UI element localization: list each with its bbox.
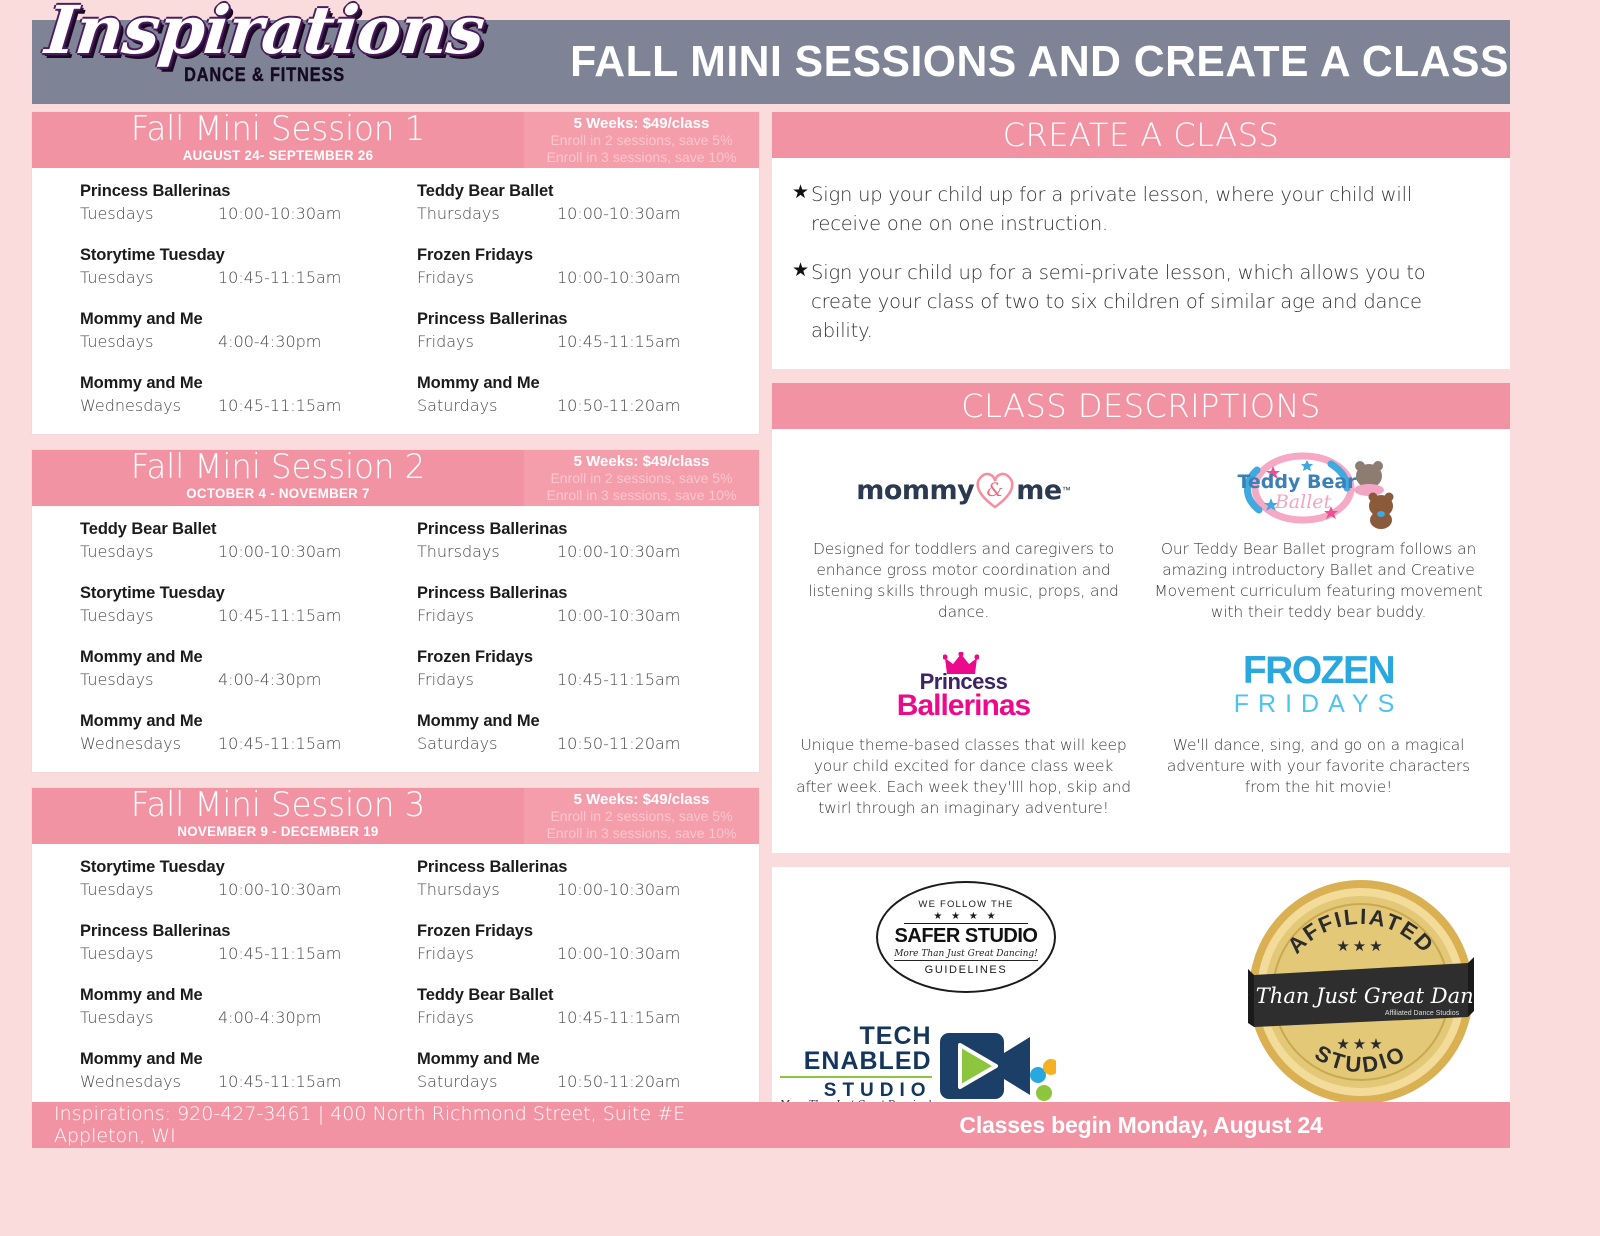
class-description-text: Unique theme-based classes that will kee… bbox=[794, 735, 1133, 819]
class-name: Princess Ballerinas bbox=[80, 920, 377, 942]
class-day: Thursdays bbox=[417, 202, 557, 226]
class-day: Tuesdays bbox=[80, 668, 218, 692]
session-column-a: Princess Ballerinas Tuesdays 10:00-10:30… bbox=[32, 180, 377, 418]
sessions-column: Fall Mini Session 1 AUGUST 24- SEPTEMBER… bbox=[32, 112, 759, 1126]
heart-icon: & bbox=[972, 470, 1018, 510]
session-body: Princess Ballerinas Tuesdays 10:00-10:30… bbox=[32, 168, 759, 434]
class-time: 10:45-11:15am bbox=[218, 394, 341, 418]
svg-text:★★★: ★★★ bbox=[1336, 938, 1385, 955]
class-day: Tuesdays bbox=[80, 942, 218, 966]
session-card-2: Fall Mini Session 2 OCTOBER 4 - NOVEMBER… bbox=[32, 450, 759, 772]
class-name: Mommy and Me bbox=[417, 372, 759, 394]
class-day: Saturdays bbox=[417, 1070, 557, 1094]
session-column-b: Princess Ballerinas Thursdays 10:00-10:3… bbox=[377, 856, 759, 1094]
class-listing: Teddy Bear Ballet Thursdays 10:00-10:30a… bbox=[417, 180, 759, 226]
class-time: 10:45-11:15am bbox=[218, 732, 341, 756]
session-column-b: Princess Ballerinas Thursdays 10:00-10:3… bbox=[377, 518, 759, 756]
class-time: 10:50-11:20am bbox=[557, 394, 680, 418]
safer-badge-script-text: More Than Just Great Dancing! bbox=[894, 949, 1038, 961]
class-day: Saturdays bbox=[417, 394, 557, 418]
star-icon: ★ bbox=[792, 258, 809, 284]
session-title: Fall Mini Session 1 bbox=[44, 109, 511, 149]
class-day: Fridays bbox=[417, 266, 557, 290]
class-name: Princess Ballerinas bbox=[417, 582, 759, 604]
class-name: Storytime Tuesday bbox=[80, 244, 377, 266]
svg-text:Teddy Bear: Teddy Bear bbox=[1237, 471, 1357, 493]
class-listing: Princess Ballerinas Fridays 10:45-11:15a… bbox=[417, 308, 759, 354]
class-name: Storytime Tuesday bbox=[80, 856, 377, 878]
class-time: 10:00-10:30am bbox=[557, 266, 680, 290]
class-time: 10:45-11:15am bbox=[557, 1006, 680, 1030]
class-listing: Storytime Tuesday Tuesdays 10:45-11:15am bbox=[80, 582, 377, 628]
session-body: Teddy Bear Ballet Tuesdays 10:00-10:30am… bbox=[32, 506, 759, 772]
class-listing: Mommy and Me Tuesdays 4:00-4:30pm bbox=[80, 984, 377, 1030]
class-name: Mommy and Me bbox=[80, 308, 377, 330]
class-day: Wednesdays bbox=[80, 732, 218, 756]
class-name: Mommy and Me bbox=[417, 1048, 759, 1070]
class-day: Tuesdays bbox=[80, 330, 218, 354]
class-listing: Storytime Tuesday Tuesdays 10:00-10:30am bbox=[80, 856, 377, 902]
class-listing: Frozen Fridays Fridays 10:00-10:30am bbox=[417, 244, 759, 290]
affiliated-badge-ribbon-sub: Affiliated Dance Studios bbox=[1385, 1010, 1460, 1017]
tech-badge-line1: TECH bbox=[780, 1024, 932, 1049]
session-header: Fall Mini Session 2 OCTOBER 4 - NOVEMBER… bbox=[32, 450, 759, 506]
session-column-a: Storytime Tuesday Tuesdays 10:00-10:30am… bbox=[32, 856, 377, 1094]
class-name: Princess Ballerinas bbox=[417, 518, 759, 540]
bullet-text: Sign your child up for a semi-private le… bbox=[811, 258, 1484, 345]
price-discount-3: Enroll in 3 sessions, save 10% bbox=[524, 149, 759, 166]
class-day: Tuesdays bbox=[80, 878, 218, 902]
affiliated-studio-badge: AFFILIATED STUDIO ★★★ ★★★ More Than Just… bbox=[1246, 877, 1476, 1107]
safer-badge-bottom-text: GUIDELINES bbox=[925, 964, 1008, 976]
class-description-text: Our Teddy Bear Ballet program follows an… bbox=[1149, 539, 1488, 623]
bullet-text: Sign up your child up for a private less… bbox=[811, 180, 1484, 238]
session-header: Fall Mini Session 1 AUGUST 24- SEPTEMBER… bbox=[32, 112, 759, 168]
class-name: Princess Ballerinas bbox=[417, 856, 759, 878]
class-description-frozen-fridays: FROZEN FRIDAYS We'll dance, sing, and go… bbox=[1141, 643, 1496, 839]
class-day: Fridays bbox=[417, 668, 557, 692]
class-day: Fridays bbox=[417, 604, 557, 628]
affiliated-badge-ribbon: More Than Just Great Dancing! bbox=[1246, 984, 1476, 1008]
class-name: Frozen Fridays bbox=[417, 646, 759, 668]
frozen-logo-line1: FROZEN bbox=[1234, 653, 1404, 689]
class-time: 10:00-10:30am bbox=[218, 540, 341, 564]
class-time: 10:00-10:30am bbox=[557, 202, 680, 226]
footer-bar: Inspirations: 920-427-3461 | 400 North R… bbox=[32, 1102, 1510, 1148]
class-name: Mommy and Me bbox=[80, 710, 377, 732]
create-a-class-heading: CREATE A CLASS bbox=[772, 112, 1510, 158]
class-day: Tuesdays bbox=[80, 202, 218, 226]
class-day: Tuesdays bbox=[80, 266, 218, 290]
svg-text:Ballet: Ballet bbox=[1273, 491, 1331, 513]
create-a-class-bullet: ★ Sign your child up for a semi-private … bbox=[792, 258, 1484, 345]
class-listing: Teddy Bear Ballet Tuesdays 10:00-10:30am bbox=[80, 518, 377, 564]
svg-text:★★★: ★★★ bbox=[1336, 1036, 1385, 1053]
class-time: 10:50-11:20am bbox=[557, 1070, 680, 1094]
class-descriptions-heading: CLASS DESCRIPTIONS bbox=[772, 383, 1510, 429]
price-main: 5 Weeks: $49/class bbox=[524, 791, 759, 808]
princess-logo-line2: Ballerinas bbox=[897, 692, 1030, 720]
class-time: 10:00-10:30am bbox=[218, 878, 341, 902]
class-descriptions-panel: CLASS DESCRIPTIONS mommy & bbox=[772, 383, 1510, 853]
class-time: 10:00-10:30am bbox=[557, 878, 680, 902]
right-column: CREATE A CLASS ★ Sign up your child up f… bbox=[772, 112, 1510, 1125]
class-listing: Princess Ballerinas Fridays 10:00-10:30a… bbox=[417, 582, 759, 628]
price-main: 5 Weeks: $49/class bbox=[524, 115, 759, 132]
price-discount-2: Enroll in 2 sessions, save 5% bbox=[524, 470, 759, 487]
session-title: Fall Mini Session 2 bbox=[44, 447, 511, 487]
class-time: 10:45-11:15am bbox=[218, 942, 341, 966]
class-day: Wednesdays bbox=[80, 1070, 218, 1094]
class-name: Storytime Tuesday bbox=[80, 582, 377, 604]
video-camera-icon bbox=[938, 1023, 1056, 1111]
class-listing: Teddy Bear Ballet Fridays 10:45-11:15am bbox=[417, 984, 759, 1030]
tech-badge-line3: STUDIO bbox=[780, 1081, 932, 1100]
price-discount-2: Enroll in 2 sessions, save 5% bbox=[524, 132, 759, 149]
tech-badge-line2: ENABLED bbox=[780, 1049, 932, 1078]
class-time: 4:00-4:30pm bbox=[218, 330, 321, 354]
footer-start-date: Classes begin Monday, August 24 bbox=[772, 1112, 1510, 1139]
class-name: Teddy Bear Ballet bbox=[80, 518, 377, 540]
class-listing: Frozen Fridays Fridays 10:00-10:30am bbox=[417, 920, 759, 966]
class-name: Princess Ballerinas bbox=[417, 308, 759, 330]
affiliation-badges-panel: WE FOLLOW THE ★ ★ ★ ★ SAFER STUDIO More … bbox=[772, 867, 1510, 1125]
stars-icon: ★ ★ ★ ★ bbox=[933, 911, 998, 922]
session-header: Fall Mini Session 3 NOVEMBER 9 - DECEMBE… bbox=[32, 788, 759, 844]
class-time: 10:45-11:15am bbox=[218, 1070, 341, 1094]
class-listing: Mommy and Me Wednesdays 10:45-11:15am bbox=[80, 1048, 377, 1094]
class-name: Teddy Bear Ballet bbox=[417, 180, 759, 202]
class-time: 10:00-10:30am bbox=[557, 540, 680, 564]
class-description-mommy-and-me: mommy & me™ Designed for toddle bbox=[786, 447, 1141, 643]
class-listing: Mommy and Me Wednesdays 10:45-11:15am bbox=[80, 710, 377, 756]
star-icon: ★ bbox=[792, 180, 809, 206]
svg-text:&: & bbox=[987, 479, 1004, 501]
studio-logo: Inspirations DANCE & FITNESS bbox=[100, 0, 430, 98]
logo-tagline: DANCE & FITNESS bbox=[185, 65, 346, 87]
session-dates: AUGUST 24- SEPTEMBER 26 bbox=[44, 147, 511, 163]
price-discount-3: Enroll in 3 sessions, save 10% bbox=[524, 487, 759, 504]
class-time: 10:45-11:15am bbox=[557, 330, 680, 354]
safer-studio-badge: WE FOLLOW THE ★ ★ ★ ★ SAFER STUDIO More … bbox=[876, 881, 1056, 993]
class-day: Tuesdays bbox=[80, 540, 218, 564]
session-column-a: Teddy Bear Ballet Tuesdays 10:00-10:30am… bbox=[32, 518, 377, 756]
session-card-1: Fall Mini Session 1 AUGUST 24- SEPTEMBER… bbox=[32, 112, 759, 434]
princess-ballerinas-logo: Princess Ballerinas bbox=[794, 647, 1133, 725]
page-title: FALL MINI SESSIONS AND CREATE A CLASS bbox=[552, 20, 1527, 104]
class-listing: Mommy and Me Tuesdays 4:00-4:30pm bbox=[80, 308, 377, 354]
class-name: Frozen Fridays bbox=[417, 920, 759, 942]
price-discount-3: Enroll in 3 sessions, save 10% bbox=[524, 825, 759, 842]
create-a-class-bullet: ★ Sign up your child up for a private le… bbox=[792, 180, 1484, 238]
safer-badge-main-text: SAFER STUDIO bbox=[895, 925, 1038, 948]
price-main: 5 Weeks: $49/class bbox=[524, 453, 759, 470]
class-listing: Mommy and Me Saturdays 10:50-11:20am bbox=[417, 372, 759, 418]
class-listing: Mommy and Me Saturdays 10:50-11:20am bbox=[417, 710, 759, 756]
class-listing: Storytime Tuesday Tuesdays 10:45-11:15am bbox=[80, 244, 377, 290]
price-discount-2: Enroll in 2 sessions, save 5% bbox=[524, 808, 759, 825]
class-time: 10:00-10:30am bbox=[218, 202, 341, 226]
class-description-text: Designed for toddlers and caregivers to … bbox=[794, 539, 1133, 623]
session-pricing: 5 Weeks: $49/class Enroll in 2 sessions,… bbox=[524, 788, 759, 844]
class-listing: Princess Ballerinas Thursdays 10:00-10:3… bbox=[417, 518, 759, 564]
class-time: 10:45-11:15am bbox=[218, 266, 341, 290]
class-day: Fridays bbox=[417, 942, 557, 966]
class-day: Tuesdays bbox=[80, 1006, 218, 1030]
class-time: 10:00-10:30am bbox=[557, 942, 680, 966]
class-time: 10:50-11:20am bbox=[557, 732, 680, 756]
class-day: Thursdays bbox=[417, 540, 557, 564]
footer-contact: Inspirations: 920-427-3461 | 400 North R… bbox=[32, 1103, 772, 1147]
class-name: Princess Ballerinas bbox=[80, 180, 377, 202]
create-a-class-panel: CREATE A CLASS ★ Sign up your child up f… bbox=[772, 112, 1510, 369]
class-day: Tuesdays bbox=[80, 604, 218, 628]
frozen-fridays-logo: FROZEN FRIDAYS bbox=[1149, 647, 1488, 725]
session-dates: NOVEMBER 9 - DECEMBER 19 bbox=[44, 823, 511, 839]
class-name: Mommy and Me bbox=[80, 984, 377, 1006]
class-time: 10:45-11:15am bbox=[218, 604, 341, 628]
class-time: 4:00-4:30pm bbox=[218, 668, 321, 692]
divider bbox=[904, 923, 1028, 924]
class-day: Wednesdays bbox=[80, 394, 218, 418]
session-title: Fall Mini Session 3 bbox=[44, 785, 511, 825]
class-name: Teddy Bear Ballet bbox=[417, 984, 759, 1006]
safer-badge-top-text: WE FOLLOW THE bbox=[918, 899, 1013, 910]
class-name: Mommy and Me bbox=[80, 1048, 377, 1070]
class-listing: Princess Ballerinas Thursdays 10:00-10:3… bbox=[417, 856, 759, 902]
class-day: Fridays bbox=[417, 1006, 557, 1030]
class-description-teddy-bear-ballet: Teddy Bear Ballet bbox=[1141, 447, 1496, 643]
class-name: Mommy and Me bbox=[417, 710, 759, 732]
teddy-bear-ballet-logo: Teddy Bear Ballet bbox=[1149, 451, 1488, 529]
class-name: Mommy and Me bbox=[80, 646, 377, 668]
session-body: Storytime Tuesday Tuesdays 10:00-10:30am… bbox=[32, 844, 759, 1110]
session-pricing: 5 Weeks: $49/class Enroll in 2 sessions,… bbox=[524, 112, 759, 168]
class-day: Thursdays bbox=[417, 878, 557, 902]
session-column-b: Teddy Bear Ballet Thursdays 10:00-10:30a… bbox=[377, 180, 759, 418]
session-pricing: 5 Weeks: $49/class Enroll in 2 sessions,… bbox=[524, 450, 759, 506]
class-listing: Mommy and Me Tuesdays 4:00-4:30pm bbox=[80, 646, 377, 692]
class-time: 4:00-4:30pm bbox=[218, 1006, 321, 1030]
flyer-page: FALL MINI SESSIONS AND CREATE A CLASS In… bbox=[0, 0, 1600, 1236]
class-listing: Mommy and Me Wednesdays 10:45-11:15am bbox=[80, 372, 377, 418]
mommy-and-me-logo: mommy & me™ bbox=[794, 451, 1133, 529]
session-dates: OCTOBER 4 - NOVEMBER 7 bbox=[44, 485, 511, 501]
session-card-3: Fall Mini Session 3 NOVEMBER 9 - DECEMBE… bbox=[32, 788, 759, 1110]
class-listing: Mommy and Me Saturdays 10:50-11:20am bbox=[417, 1048, 759, 1094]
class-description-text: We'll dance, sing, and go on a magical a… bbox=[1149, 735, 1488, 798]
class-listing: Frozen Fridays Fridays 10:45-11:15am bbox=[417, 646, 759, 692]
class-day: Fridays bbox=[417, 330, 557, 354]
frozen-logo-line2: FRIDAYS bbox=[1234, 689, 1404, 719]
logo-wordmark: Inspirations bbox=[43, 0, 487, 63]
class-description-princess-ballerinas: Princess Ballerinas Unique theme-based c… bbox=[786, 643, 1141, 839]
class-day: Saturdays bbox=[417, 732, 557, 756]
class-listing: Princess Ballerinas Tuesdays 10:00-10:30… bbox=[80, 180, 377, 226]
class-name: Mommy and Me bbox=[80, 372, 377, 394]
class-listing: Princess Ballerinas Tuesdays 10:45-11:15… bbox=[80, 920, 377, 966]
class-name: Frozen Fridays bbox=[417, 244, 759, 266]
class-time: 10:45-11:15am bbox=[557, 668, 680, 692]
class-time: 10:00-10:30am bbox=[557, 604, 680, 628]
